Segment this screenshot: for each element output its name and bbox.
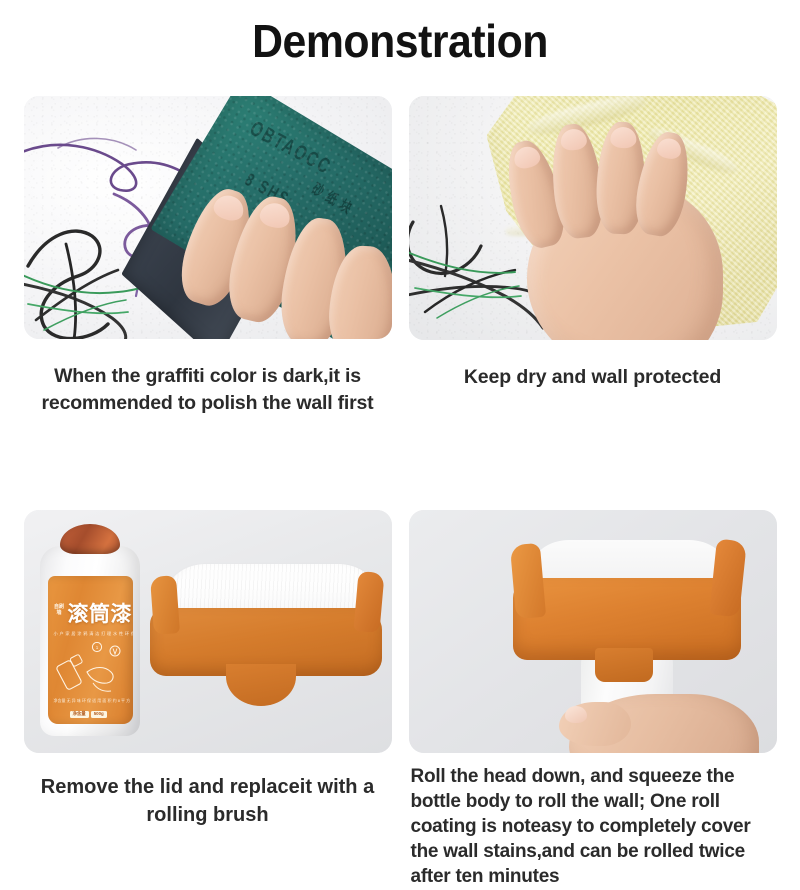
thumbnail [565, 706, 587, 723]
grid-row-2: 自刷墙 滚筒漆 小 户 家 居 涂 鸦 清 洁 打 理 水 性 环 保 漆 省 … [0, 510, 800, 889]
fingernail [610, 127, 637, 149]
label-subtitle: 小 户 家 居 涂 鸦 清 洁 打 理 水 性 环 保 漆 省 力 省 时 便 … [54, 631, 128, 637]
demonstration-grid: OBTAOCC 8 SHS 砂 纸 块 Wh [0, 96, 800, 890]
paint-bottle: 自刷墙 滚筒漆 小 户 家 居 涂 鸦 清 洁 打 理 水 性 环 保 漆 省 … [40, 524, 140, 736]
step-caption-3: Remove the lid and replaceit with a roll… [24, 774, 392, 829]
badge-net-content: 净含量 [70, 711, 89, 719]
roller-arm-right [353, 571, 384, 633]
bottle-label: 自刷墙 滚筒漆 小 户 家 居 涂 鸦 清 洁 打 理 水 性 环 保 漆 省 … [48, 576, 133, 724]
photo-bottle-and-roller: 自刷墙 滚筒漆 小 户 家 居 涂 鸦 清 洁 打 理 水 性 环 保 漆 省 … [24, 510, 392, 753]
page-title: Demonstration [28, 0, 772, 67]
svg-text:1: 1 [95, 646, 98, 651]
badge-weight: 500g [91, 711, 107, 719]
fingernail [257, 200, 292, 230]
step-caption-2: Keep dry and wall protected [409, 364, 777, 391]
photo-wiping-wall [409, 96, 777, 340]
photo-rolling-wall [409, 510, 777, 753]
roller-arm-left [509, 543, 545, 619]
roller-brush-head [150, 564, 382, 714]
label-illustration: 1 [53, 642, 129, 700]
bottle-cap [60, 524, 120, 554]
step-cell-4: Roll the head down, and squeeze the bott… [409, 510, 777, 889]
step-cell-2: Keep dry and wall protected [409, 96, 777, 416]
step-caption-1: When the graffiti color is dark,it is re… [24, 363, 392, 416]
photo-sanding-wall: OBTAOCC 8 SHS 砂 纸 块 [24, 96, 392, 339]
fingernail [655, 137, 682, 161]
grid-row-1: OBTAOCC 8 SHS 砂 纸 块 Wh [0, 96, 800, 416]
sanding-block-print-line1: OBTAOCC [245, 117, 335, 180]
fingernail [559, 128, 587, 152]
fingernail [511, 144, 541, 171]
label-title: 滚筒漆 [68, 604, 133, 625]
fingernail [211, 192, 247, 224]
label-footer-text: 净含量 无 异 味 环 保 适 用 面 积 约 8 平 方 [54, 698, 124, 704]
roller-arm-left [150, 576, 180, 636]
step-cell-3: 自刷墙 滚筒漆 小 户 家 居 涂 鸦 清 洁 打 理 水 性 环 保 漆 省 … [24, 510, 392, 889]
label-weight-badge: 净含量 500g [70, 711, 107, 719]
step-caption-4: Roll the head down, and squeeze the bott… [409, 765, 777, 889]
hand-wiping [501, 130, 741, 340]
hand-holding-block [188, 188, 392, 339]
step-cell-1: OBTAOCC 8 SHS 砂 纸 块 Wh [24, 96, 392, 416]
hand-squeezing-bottle [559, 676, 759, 753]
label-side-tag: 自刷墙 [53, 605, 66, 616]
roller-stem [226, 664, 296, 706]
